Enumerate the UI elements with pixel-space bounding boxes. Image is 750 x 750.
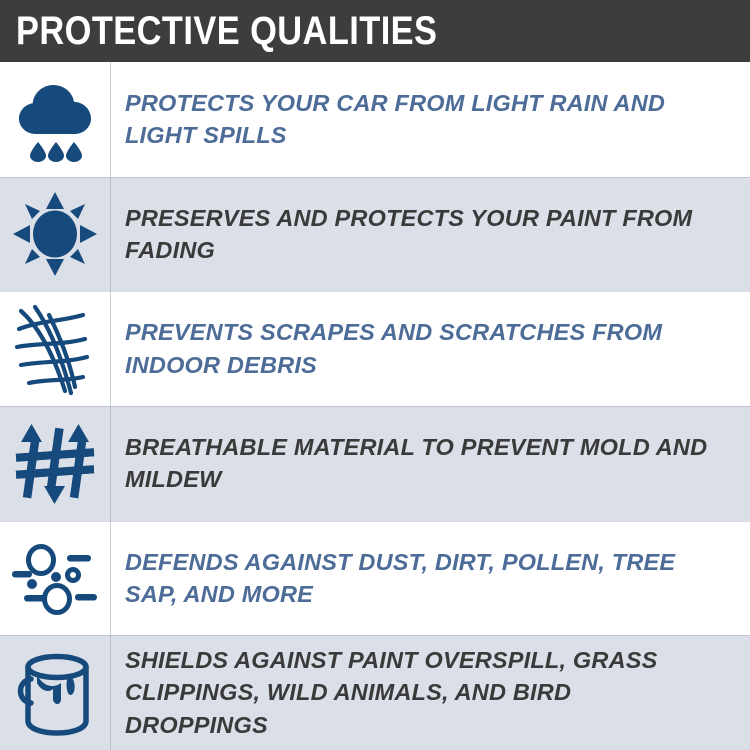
list-item: PREVENTS SCRAPES AND SCRATCHES FROM INDO… bbox=[0, 291, 750, 406]
list-item: BREATHABLE MATERIAL TO PREVENT MOLD AND … bbox=[0, 406, 750, 521]
list-item-label: PRESERVES AND PROTECTS YOUR PAINT FROM F… bbox=[125, 202, 710, 267]
text-cell: DEFENDS AGAINST DUST, DIRT, POLLEN, TREE… bbox=[110, 521, 750, 636]
text-cell: SHIELDS AGAINST PAINT OVERSPILL, GRASS C… bbox=[110, 635, 750, 750]
icon-cell bbox=[0, 291, 110, 406]
list-item: PRESERVES AND PROTECTS YOUR PAINT FROM F… bbox=[0, 177, 750, 292]
icon-cell bbox=[0, 635, 110, 750]
icon-cell bbox=[0, 62, 110, 177]
text-cell: PRESERVES AND PROTECTS YOUR PAINT FROM F… bbox=[110, 177, 750, 292]
list-item-label: PROTECTS YOUR CAR FROM LIGHT RAIN AND LI… bbox=[125, 87, 710, 152]
rain-cloud-icon bbox=[15, 76, 95, 162]
list-item: PROTECTS YOUR CAR FROM LIGHT RAIN AND LI… bbox=[0, 62, 750, 177]
list-item-label: DEFENDS AGAINST DUST, DIRT, POLLEN, TREE… bbox=[125, 546, 710, 611]
feature-list: PROTECTS YOUR CAR FROM LIGHT RAIN AND LI… bbox=[0, 62, 750, 750]
list-item: SHIELDS AGAINST PAINT OVERSPILL, GRASS C… bbox=[0, 635, 750, 750]
list-item-label: SHIELDS AGAINST PAINT OVERSPILL, GRASS C… bbox=[125, 644, 710, 741]
dust-particles-icon bbox=[10, 538, 100, 618]
text-cell: PREVENTS SCRAPES AND SCRATCHES FROM INDO… bbox=[110, 291, 750, 406]
page-title: PROTECTIVE QUALITIES bbox=[16, 11, 437, 51]
list-item-label: PREVENTS SCRAPES AND SCRATCHES FROM INDO… bbox=[125, 316, 710, 381]
icon-cell bbox=[0, 521, 110, 636]
paint-can-icon bbox=[13, 649, 97, 737]
icon-cell bbox=[0, 406, 110, 521]
icon-cell bbox=[0, 177, 110, 292]
header-bar: PROTECTIVE QUALITIES bbox=[0, 0, 750, 62]
list-item-label: BREATHABLE MATERIAL TO PREVENT MOLD AND … bbox=[125, 431, 710, 496]
list-item: DEFENDS AGAINST DUST, DIRT, POLLEN, TREE… bbox=[0, 521, 750, 636]
protective-qualities-infographic: PROTECTIVE QUALITIES PROTECTS YOUR CAR F… bbox=[0, 0, 750, 750]
breathable-airflow-arrows-icon bbox=[12, 420, 98, 506]
text-cell: PROTECTS YOUR CAR FROM LIGHT RAIN AND LI… bbox=[110, 62, 750, 177]
text-cell: BREATHABLE MATERIAL TO PREVENT MOLD AND … bbox=[110, 406, 750, 521]
scratches-mesh-icon bbox=[13, 301, 97, 397]
sun-icon bbox=[13, 192, 97, 276]
